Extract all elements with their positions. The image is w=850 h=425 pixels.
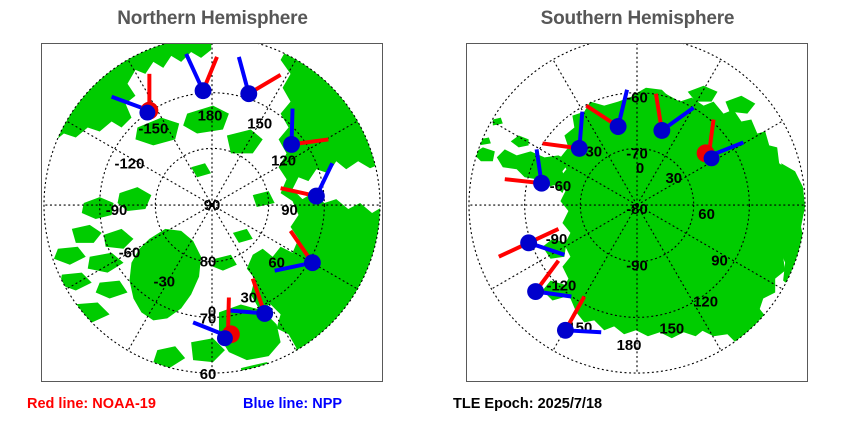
lon-label-m120: -120: [115, 156, 145, 172]
lon-label-150: 150: [659, 321, 684, 337]
lon-label-m150: -150: [138, 121, 168, 137]
lon-label-30: 30: [665, 171, 682, 187]
lat-label-m70: -70: [626, 146, 648, 162]
lat-label-m60: -60: [626, 91, 648, 107]
lon-label-180: 180: [198, 109, 223, 125]
tle-epoch-label: TLE Epoch: 2025/7/18: [453, 396, 602, 412]
northern-polar-map: 0 30 60 90 120 150 180 -150 -120 -90 -60…: [42, 44, 382, 381]
southern-plot-frame: 0 30 60 90 120 150 180 -150 -120 -90 -60…: [466, 43, 808, 382]
lon-label-60: 60: [698, 207, 715, 223]
lon-label-m60: -60: [550, 179, 572, 195]
lat-label-90: 90: [204, 198, 221, 214]
lat-label-80: 80: [200, 255, 217, 271]
lon-label-m30: -30: [154, 275, 176, 291]
lon-label-90: 90: [711, 254, 728, 270]
lon-label-30: 30: [240, 290, 257, 306]
lon-label-m60: -60: [119, 246, 141, 262]
lat-label-m90: -90: [626, 259, 648, 275]
legend-noaa19: Red line: NOAA-19: [27, 396, 156, 412]
page-title-northern: Northern Hemisphere: [0, 8, 425, 30]
lon-label-180: 180: [617, 338, 642, 354]
lon-label-90: 90: [281, 203, 298, 219]
page-title-southern: Southern Hemisphere: [425, 8, 850, 30]
lon-label-150: 150: [247, 116, 272, 132]
legend-npp: Blue line: NPP: [243, 396, 342, 412]
lon-label-120: 120: [271, 153, 296, 169]
northern-hemisphere-panel: Northern Hemisphere: [0, 0, 425, 425]
lat-label-m80: -80: [626, 202, 648, 218]
lon-label-m90: -90: [106, 203, 128, 219]
lon-label-120: 120: [693, 294, 718, 310]
northern-plot-frame: 0 30 60 90 120 150 180 -150 -120 -90 -60…: [41, 43, 383, 382]
southern-polar-map: 0 30 60 90 120 150 180 -150 -120 -90 -60…: [467, 44, 807, 381]
lat-label-60: 60: [200, 367, 217, 381]
southern-hemisphere-panel: Southern Hemisphere: [425, 0, 850, 425]
lon-label-0: 0: [636, 161, 644, 177]
